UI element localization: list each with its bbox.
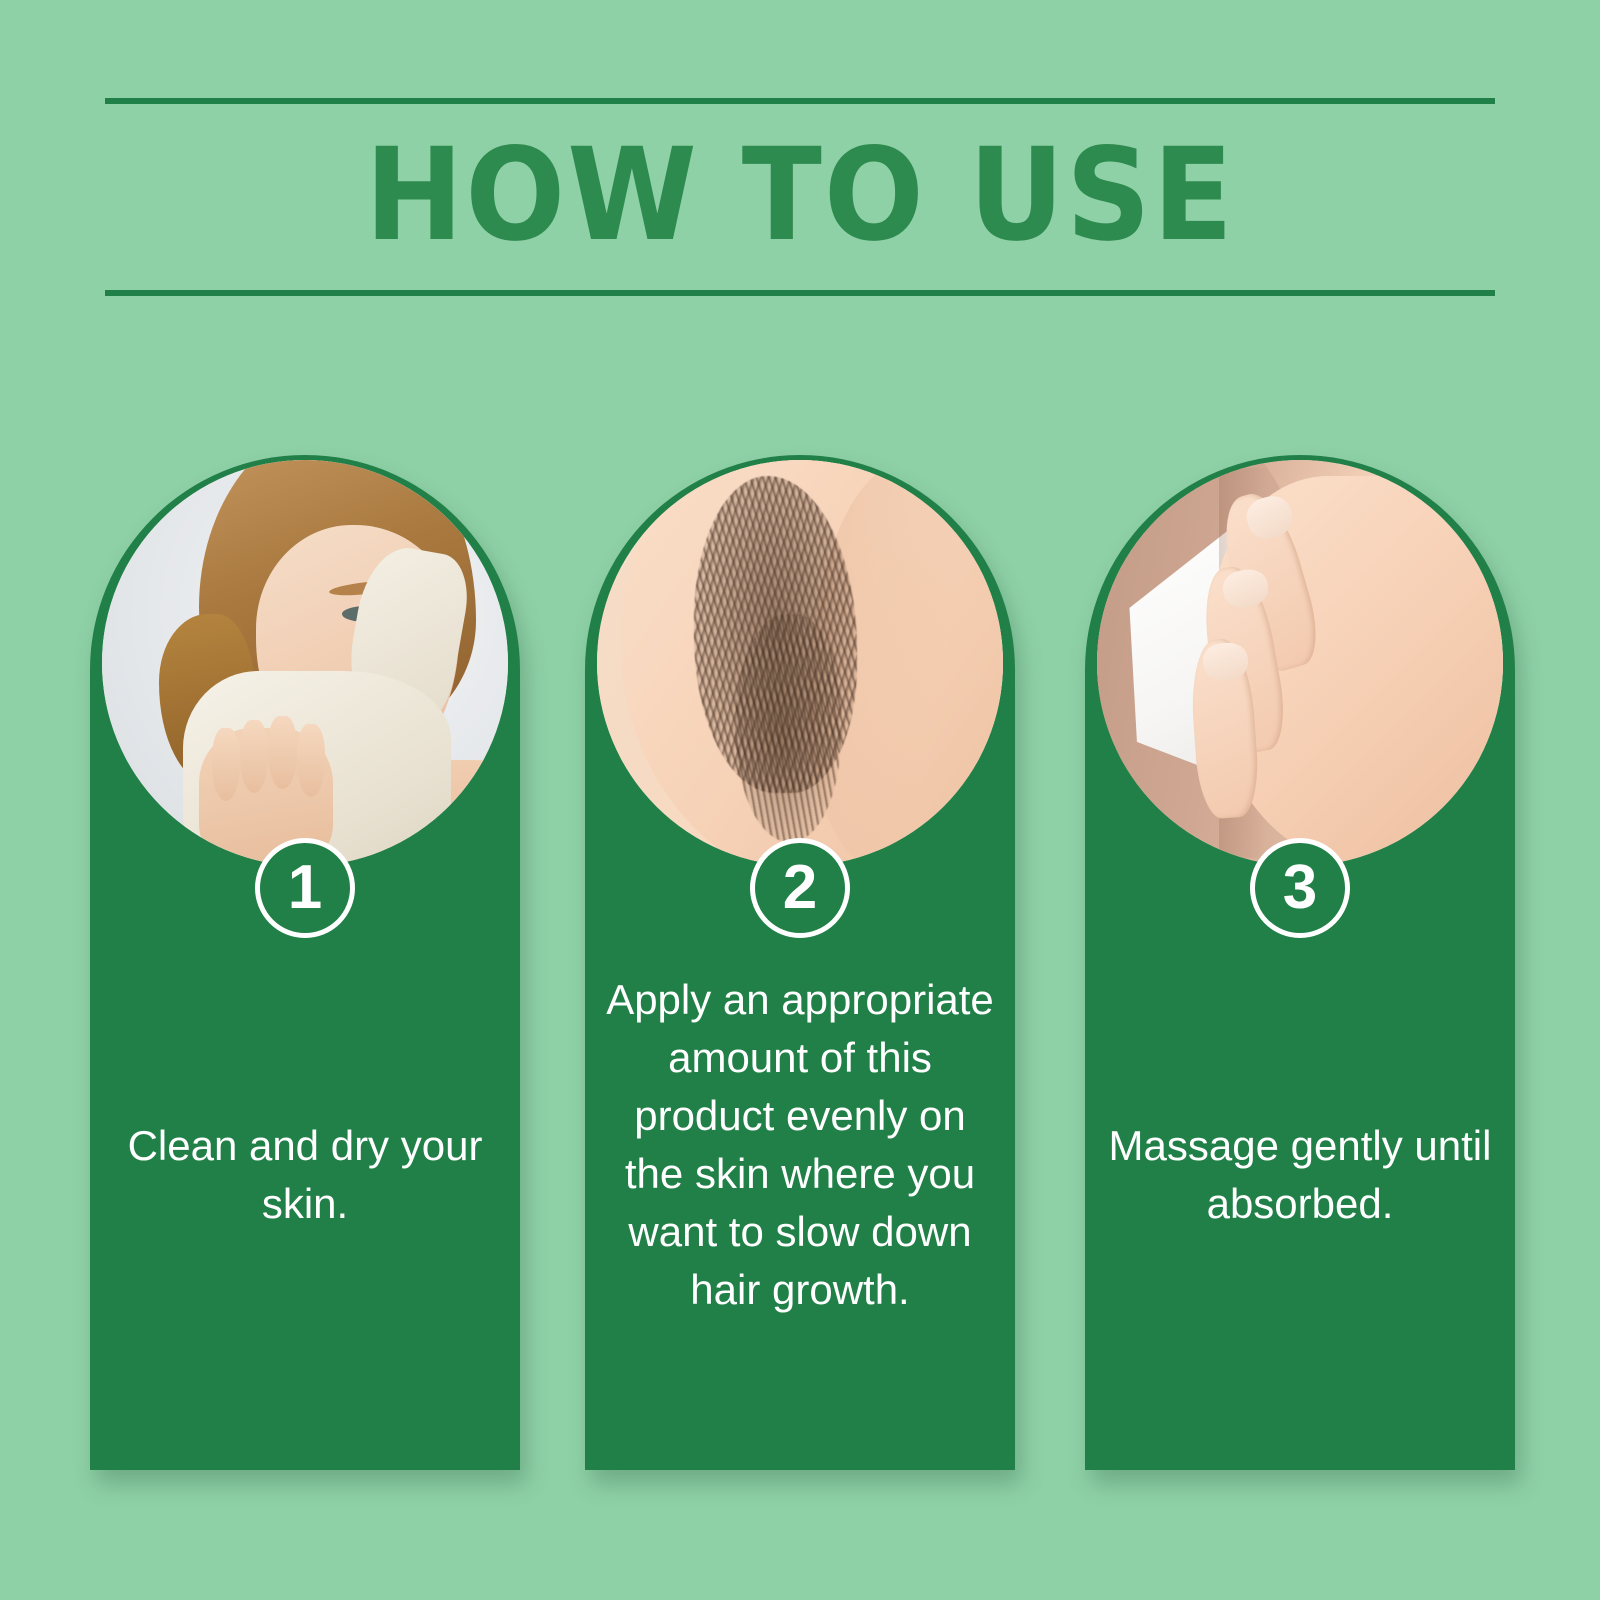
header: HOW TO USE bbox=[105, 98, 1495, 296]
step-caption-2: Apply an appropriate amount of this prod… bbox=[601, 971, 999, 1319]
step-number-badge-2: 2 bbox=[750, 838, 850, 938]
photo-underarm-hair-icon bbox=[597, 460, 1003, 866]
step-1-photo bbox=[102, 460, 508, 866]
steps-container: 1 Clean and dry your skin. 2 Apply an ap… bbox=[0, 455, 1600, 1515]
step-number-badge-1: 1 bbox=[255, 838, 355, 938]
step-3-photo bbox=[1097, 460, 1503, 866]
step-2-photo bbox=[597, 460, 1003, 866]
step-card-1[interactable]: 1 Clean and dry your skin. bbox=[90, 455, 520, 1470]
step-caption-1: Clean and dry your skin. bbox=[106, 1117, 504, 1233]
step-number-badge-3: 3 bbox=[1250, 838, 1350, 938]
photo-hand-cotton-pad-icon bbox=[1097, 460, 1503, 866]
step-card-2[interactable]: 2 Apply an appropriate amount of this pr… bbox=[585, 455, 1015, 1470]
step-caption-3: Massage gently until absorbed. bbox=[1101, 1117, 1499, 1233]
page-title: HOW TO USE bbox=[91, 104, 1509, 290]
step-card-3[interactable]: 3 Massage gently until absorbed. bbox=[1085, 455, 1515, 1470]
title-rule-bottom bbox=[105, 290, 1495, 296]
photo-woman-drying-face-icon bbox=[102, 460, 508, 866]
